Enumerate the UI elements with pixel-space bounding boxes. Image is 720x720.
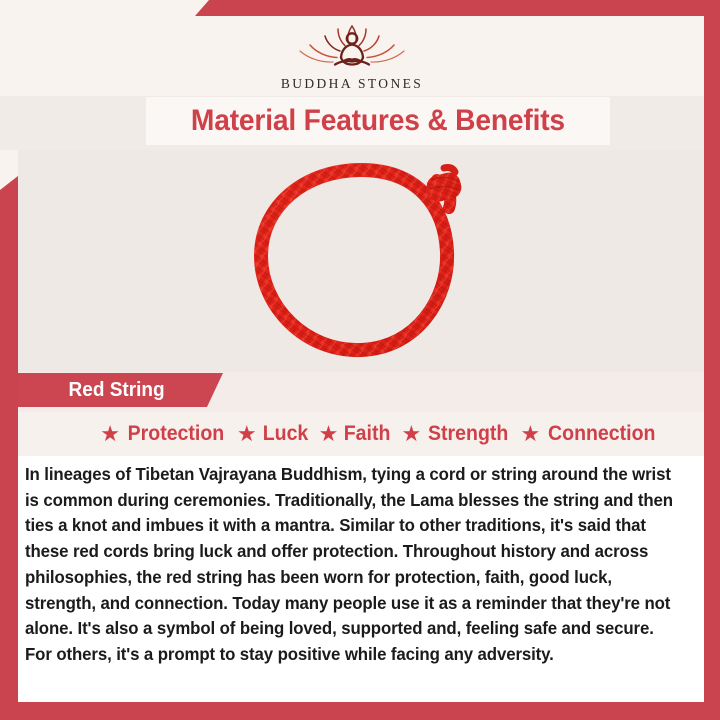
page-title: Material Features & Benefits xyxy=(146,97,610,145)
star-icon: ★ xyxy=(319,423,339,445)
benefit-item-faith: ★ Faith xyxy=(319,422,393,446)
star-icon: ★ xyxy=(237,423,257,445)
description-block: In lineages of Tibetan Vajrayana Buddhis… xyxy=(18,456,704,702)
benefit-label: Protection xyxy=(128,422,225,446)
description-text: In lineages of Tibetan Vajrayana Buddhis… xyxy=(25,462,676,668)
benefit-item-strength: ★ Strength xyxy=(401,422,511,446)
benefit-label: Connection xyxy=(548,422,655,446)
page-title-text: Material Features & Benefits xyxy=(191,104,565,138)
infographic-card: BUDDHA STONES Material Features & Benefi… xyxy=(0,0,720,720)
benefit-item-luck: ★ Luck xyxy=(237,422,310,446)
star-icon: ★ xyxy=(401,423,421,445)
red-braided-string-bracelet-photo xyxy=(18,150,704,372)
product-label-tag: Red String xyxy=(18,373,223,407)
brand-header: BUDDHA STONES xyxy=(0,16,704,94)
frame-top-bar xyxy=(195,0,720,16)
benefit-item-protection: ★ Protection xyxy=(100,422,228,446)
product-label-text: Red String xyxy=(69,379,165,402)
benefit-label: Faith xyxy=(344,422,391,446)
benefit-label: Luck xyxy=(262,422,308,446)
brand-name: BUDDHA STONES xyxy=(281,76,423,92)
star-icon: ★ xyxy=(100,423,120,445)
benefits-row: ★ Protection ★ Luck ★ Faith ★ Strength ★… xyxy=(18,412,704,456)
product-image xyxy=(18,150,704,372)
frame-right-bar xyxy=(704,16,720,720)
lotus-meditation-figure-icon xyxy=(288,20,416,74)
benefit-item-connection: ★ Connection xyxy=(521,422,660,446)
frame-left-bar xyxy=(0,176,18,720)
frame-bottom-bar xyxy=(18,702,720,720)
benefit-label: Strength xyxy=(428,422,508,446)
star-icon: ★ xyxy=(521,423,541,445)
brand-logo: BUDDHA STONES xyxy=(281,20,423,92)
